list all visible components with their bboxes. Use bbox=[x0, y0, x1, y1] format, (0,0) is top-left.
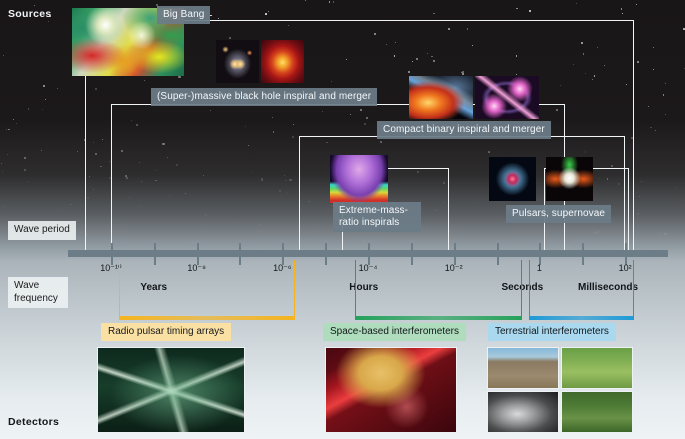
virgo-detector-aerial-photo bbox=[561, 347, 633, 389]
ligo-hanford-aerial-photo bbox=[487, 347, 559, 389]
detectors-label: Detectors bbox=[8, 416, 59, 428]
pulsar-thumbnail bbox=[489, 157, 536, 201]
ligo-livingston-aerial-photo bbox=[561, 391, 633, 433]
extreme-mass-ratio-inspiral-thumbnail bbox=[330, 155, 388, 203]
detector-label-terrestrial-interferometers: Terrestrial interferometers bbox=[488, 323, 616, 341]
axis-tick bbox=[111, 243, 113, 265]
wave-frequency-label: Wave frequency bbox=[8, 277, 68, 308]
binary-black-hole-orbit-thumbnail bbox=[475, 76, 539, 119]
source-label-compact-binary: Compact binary inspiral and merger bbox=[377, 121, 551, 139]
black-hole-merger-simulation-thumbnail bbox=[261, 40, 304, 83]
detector-bracket-space-based-interferometers bbox=[355, 260, 522, 320]
space-interferometer-illustration bbox=[325, 347, 457, 433]
wave-period-label: Wave period bbox=[8, 221, 76, 240]
galaxy-merger-thumbnail bbox=[216, 40, 259, 83]
radio-telescope-pulsar-array-photo bbox=[97, 347, 245, 433]
sources-label: Sources bbox=[8, 8, 52, 20]
axis-tick-label: 10⁻¹⁰ bbox=[100, 263, 121, 274]
detector-label-space-based-interferometers: Space-based interferometers bbox=[323, 323, 466, 341]
gravitational-wave-spectrum-figure: Sources Detectors Big Bang(Super-)massiv… bbox=[0, 0, 685, 439]
source-label-extreme-mass-ratio-inspirals: Extreme-mass-ratio inspirals bbox=[333, 202, 421, 232]
source-label-big-bang: Big Bang bbox=[157, 6, 210, 24]
active-galactic-nucleus-jet-thumbnail bbox=[409, 76, 473, 119]
supernova-remnant-thumbnail bbox=[546, 157, 593, 201]
ligo-beam-tube-interior-photo bbox=[487, 391, 559, 433]
axis-tick bbox=[325, 243, 327, 265]
detector-bracket-radio-pulsar-timing-arrays bbox=[119, 260, 295, 320]
source-label-supermassive-black-hole: (Super-)massive black hole inspiral and … bbox=[151, 88, 377, 106]
detector-bracket-terrestrial-interferometers bbox=[529, 260, 634, 320]
source-label-pulsars-supernovae: Pulsars, supernovae bbox=[506, 205, 611, 223]
detector-label-radio-pulsar-timing-arrays: Radio pulsar timing arrays bbox=[101, 323, 231, 341]
